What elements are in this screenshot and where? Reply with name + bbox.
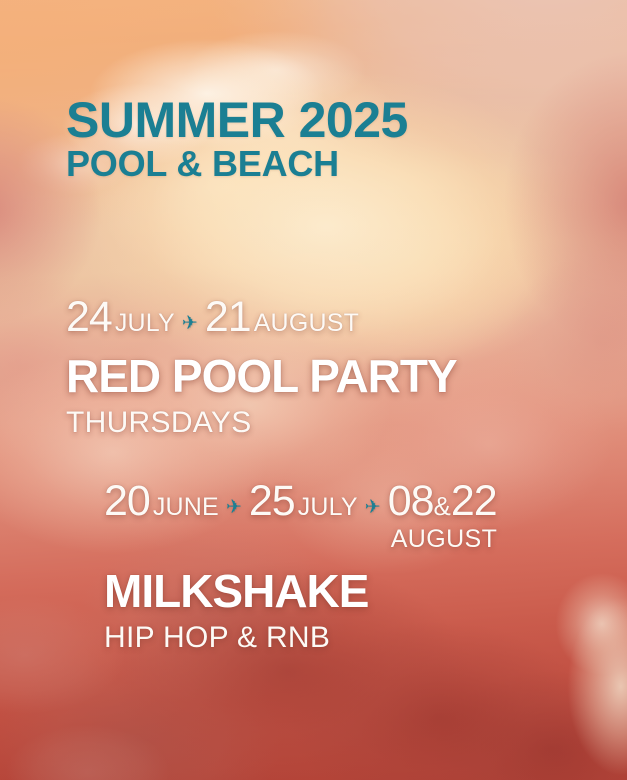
event-date-day: 08 [388,477,434,525]
event-date-month: JULY [298,495,358,520]
event-date-month: JUNE [153,495,219,520]
event-date-day: 25 [249,480,295,523]
headline-line-1: SUMMER 2025 [66,96,408,144]
event-date-day-2: 22 [451,477,497,525]
poster-headline: SUMMER 2025 POOL & BEACH [66,96,408,182]
event-date-row: 20 JUNE ✈ 25 JULY ✈ 08&22 AUGUST [104,480,497,552]
event-tagline: THURSDAYS [66,408,457,438]
event-date-row: 24 JULY ✈ 21 AUGUST [66,296,457,339]
event-date-month: AUGUST [391,527,498,552]
headline-line-2: POOL & BEACH [66,146,408,182]
event-tagline: HIP HOP & RNB [104,623,497,653]
event-date-month: AUGUST [254,311,359,336]
event-date-day: 21 [205,296,251,339]
airplane-icon: ✈ [365,498,381,517]
event-block-red-pool-party: 24 JULY ✈ 21 AUGUST RED POOL PARTY THURS… [66,296,457,438]
event-date-ampersand: & [434,491,451,521]
event-date-day: 20 [104,480,150,523]
airplane-icon: ✈ [182,314,198,333]
event-date-stacked: 08&22 AUGUST [388,480,498,552]
summer-event-poster: SUMMER 2025 POOL & BEACH 24 JULY ✈ 21 AU… [0,0,627,780]
event-block-milkshake: 20 JUNE ✈ 25 JULY ✈ 08&22 AUGUST MILKSHA… [104,480,497,653]
event-title: RED POOL PARTY [66,353,457,399]
poster-content: SUMMER 2025 POOL & BEACH 24 JULY ✈ 21 AU… [0,0,627,780]
event-title: MILKSHAKE [104,568,497,614]
event-date-month: JULY [115,311,175,336]
event-date-days-line: 08&22 [388,480,497,523]
event-date-day: 24 [66,296,112,339]
airplane-icon: ✈ [226,498,242,517]
